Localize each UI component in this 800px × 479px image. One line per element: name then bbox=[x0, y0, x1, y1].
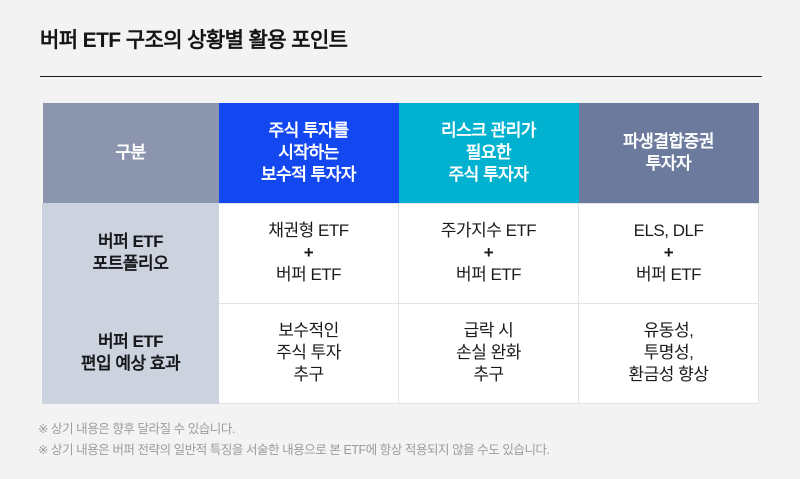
cell-portfolio-beginner-line-1: 채권형 ETF bbox=[225, 220, 392, 242]
column-header-risk-line-2: 필요한 bbox=[405, 142, 573, 164]
cell-portfolio-risk-line-3: 버퍼 ETF bbox=[405, 264, 572, 286]
title-divider bbox=[40, 76, 762, 77]
cell-effect-risk-line-1: 급락 시 bbox=[405, 320, 572, 342]
cell-effect-derivative-text: 유동성, 투명성, 환금성 향상 bbox=[585, 320, 752, 386]
row-label-portfolio-text: 버퍼 ETF 포트폴리오 bbox=[49, 231, 212, 275]
cell-portfolio-risk: 주가지수 ETF + 버퍼 ETF bbox=[399, 203, 579, 303]
table-header: 구분 주식 투자를 시작하는 보수적 투자자 리스크 관리가 필요한 bbox=[43, 103, 759, 203]
row-label-effect-line-1: 버퍼 ETF bbox=[49, 331, 212, 353]
infographic-page: 버퍼 ETF 구조의 상황별 활용 포인트 구분 주식 투자를 bbox=[0, 0, 800, 479]
column-header-risk-text: 리스크 관리가 필요한 주식 투자자 bbox=[405, 120, 573, 186]
cell-effect-derivative-line-1: 유동성, bbox=[585, 320, 752, 342]
column-header-beginner-line-1: 주식 투자를 bbox=[225, 120, 393, 142]
column-header-label: 구분 bbox=[43, 103, 219, 203]
comparison-table-wrapper: 구분 주식 투자를 시작하는 보수적 투자자 리스크 관리가 필요한 bbox=[42, 103, 758, 404]
cell-effect-derivative-line-3: 환금성 향상 bbox=[585, 364, 752, 386]
cell-portfolio-derivative-text: ELS, DLF + 버퍼 ETF bbox=[585, 220, 752, 285]
column-header-derivative-line-1: 파생결합증권 bbox=[585, 131, 753, 153]
column-header-beginner-line-2: 시작하는 bbox=[225, 142, 393, 164]
column-header-derivative: 파생결합증권 투자자 bbox=[579, 103, 759, 203]
plus-sign-icon: + bbox=[405, 242, 572, 263]
column-header-beginner-line-3: 보수적 투자자 bbox=[225, 164, 393, 186]
column-header-beginner: 주식 투자를 시작하는 보수적 투자자 bbox=[219, 103, 399, 203]
title-block: 버퍼 ETF 구조의 상황별 활용 포인트 bbox=[40, 26, 762, 77]
cell-portfolio-beginner-text: 채권형 ETF + 버퍼 ETF bbox=[225, 220, 392, 285]
cell-portfolio-beginner: 채권형 ETF + 버퍼 ETF bbox=[219, 203, 399, 303]
footnote-1: ※ 상기 내용은 향후 달라질 수 있습니다. bbox=[38, 419, 768, 440]
cell-effect-risk-line-3: 추구 bbox=[405, 364, 572, 386]
cell-effect-beginner-line-3: 추구 bbox=[225, 364, 392, 386]
table-row: 버퍼 ETF 편입 예상 효과 보수적인 주식 투자 추구 급락 시 bbox=[43, 303, 759, 403]
cell-effect-beginner-text: 보수적인 주식 투자 추구 bbox=[225, 320, 392, 386]
row-label-effect-line-2: 편입 예상 효과 bbox=[49, 353, 212, 375]
column-header-beginner-text: 주식 투자를 시작하는 보수적 투자자 bbox=[225, 120, 393, 186]
footnote-2: ※ 상기 내용은 버퍼 전략의 일반적 특징을 서술한 내용으로 본 ETF에 … bbox=[38, 440, 768, 461]
cell-effect-beginner-line-2: 주식 투자 bbox=[225, 342, 392, 364]
cell-effect-derivative-line-2: 투명성, bbox=[585, 342, 752, 364]
row-label-portfolio-line-2: 포트폴리오 bbox=[49, 253, 212, 275]
plus-sign-icon: + bbox=[225, 242, 392, 263]
cell-effect-risk: 급락 시 손실 완화 추구 bbox=[399, 303, 579, 403]
cell-effect-beginner-line-1: 보수적인 bbox=[225, 320, 392, 342]
page-title: 버퍼 ETF 구조의 상황별 활용 포인트 bbox=[40, 26, 762, 56]
table-row: 버퍼 ETF 포트폴리오 채권형 ETF + 버퍼 ETF 주가지수 bbox=[43, 203, 759, 303]
column-header-risk-line-1: 리스크 관리가 bbox=[405, 120, 573, 142]
column-header-risk-line-3: 주식 투자자 bbox=[405, 164, 573, 186]
footnotes: ※ 상기 내용은 향후 달라질 수 있습니다. ※ 상기 내용은 버퍼 전략의 … bbox=[38, 419, 768, 461]
cell-portfolio-derivative: ELS, DLF + 버퍼 ETF bbox=[579, 203, 759, 303]
column-header-derivative-text: 파생결합증권 투자자 bbox=[585, 131, 753, 175]
column-header-risk: 리스크 관리가 필요한 주식 투자자 bbox=[399, 103, 579, 203]
column-header-label-text: 구분 bbox=[115, 143, 145, 162]
row-label-effect: 버퍼 ETF 편입 예상 효과 bbox=[43, 303, 219, 403]
plus-sign-icon: + bbox=[585, 242, 752, 263]
table-body: 버퍼 ETF 포트폴리오 채권형 ETF + 버퍼 ETF 주가지수 bbox=[43, 203, 759, 403]
cell-portfolio-beginner-line-3: 버퍼 ETF bbox=[225, 264, 392, 286]
cell-effect-risk-text: 급락 시 손실 완화 추구 bbox=[405, 320, 572, 386]
row-label-effect-text: 버퍼 ETF 편입 예상 효과 bbox=[49, 331, 212, 375]
row-label-portfolio: 버퍼 ETF 포트폴리오 bbox=[43, 203, 219, 303]
table-header-row: 구분 주식 투자를 시작하는 보수적 투자자 리스크 관리가 필요한 bbox=[43, 103, 759, 203]
cell-portfolio-derivative-line-3: 버퍼 ETF bbox=[585, 264, 752, 286]
cell-portfolio-risk-text: 주가지수 ETF + 버퍼 ETF bbox=[405, 220, 572, 285]
cell-effect-derivative: 유동성, 투명성, 환금성 향상 bbox=[579, 303, 759, 403]
cell-effect-beginner: 보수적인 주식 투자 추구 bbox=[219, 303, 399, 403]
cell-portfolio-derivative-line-1: ELS, DLF bbox=[585, 220, 752, 242]
cell-portfolio-risk-line-1: 주가지수 ETF bbox=[405, 220, 572, 242]
cell-effect-risk-line-2: 손실 완화 bbox=[405, 342, 572, 364]
comparison-table: 구분 주식 투자를 시작하는 보수적 투자자 리스크 관리가 필요한 bbox=[42, 103, 759, 404]
column-header-derivative-line-2: 투자자 bbox=[585, 153, 753, 175]
row-label-portfolio-line-1: 버퍼 ETF bbox=[49, 231, 212, 253]
